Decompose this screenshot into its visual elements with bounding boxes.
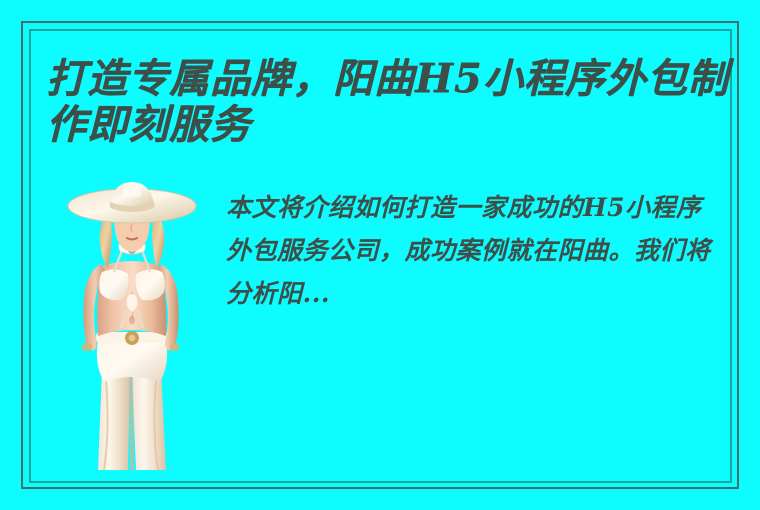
figure-image <box>62 180 198 470</box>
woman-in-cowboy-hat-icon <box>62 180 198 470</box>
banner-headline: 打造专属品牌，阳曲H5小程序外包制作即刻服务 <box>46 56 736 148</box>
banner-body-text: 本文将介绍如何打造一家成功的H5小程序外包服务公司，成功案例就在阳曲。我们将分析… <box>226 186 722 315</box>
promo-banner: 打造专属品牌，阳曲H5小程序外包制作即刻服务 <box>0 0 760 510</box>
